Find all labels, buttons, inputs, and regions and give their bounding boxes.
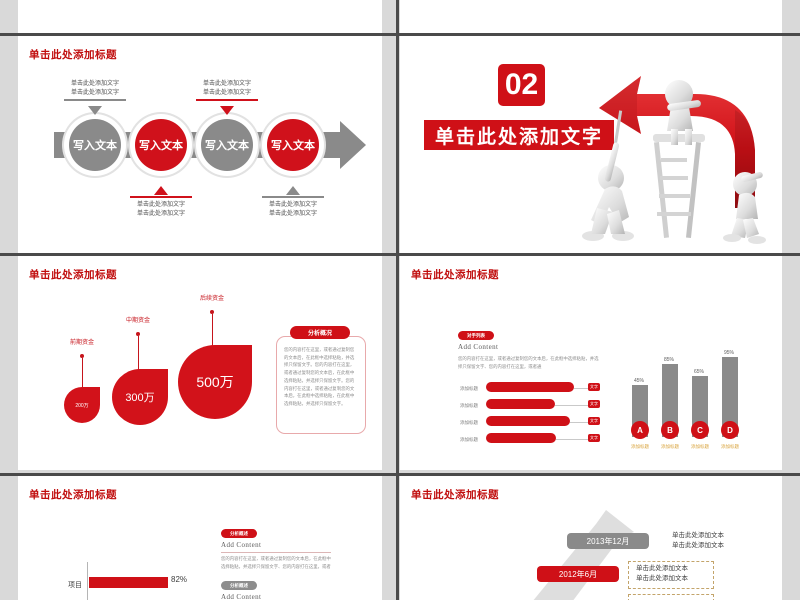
process-caption-4-line2: 单击此处添加文字 bbox=[262, 210, 324, 219]
bar-marker-a[interactable]: A bbox=[631, 421, 649, 439]
process-caption-4: 单击此处添加文字 单击此处添加文字 bbox=[262, 196, 324, 218]
process-caption-4-pointer bbox=[286, 186, 300, 195]
row-separator-1 bbox=[0, 33, 800, 36]
page-title: 单击此处添加标题 bbox=[29, 47, 117, 62]
comparison-row-2-tag-text: 文字 bbox=[590, 401, 598, 407]
comparison-badge: 对手列表 bbox=[458, 331, 494, 340]
timeline-text-2013: 单击此处添加文本 单击此处添加文本 bbox=[672, 531, 724, 552]
drop-2-label-text: 中期资金 bbox=[126, 318, 150, 324]
process-caption-3-pointer bbox=[220, 106, 234, 115]
process-step-1-label: 写入文本 bbox=[73, 137, 117, 153]
comparison-row-3-connector bbox=[570, 421, 589, 423]
bar-tick-b: 添加标题 bbox=[654, 444, 686, 450]
process-step-2-label: 写入文本 bbox=[139, 137, 183, 153]
bar-marker-b-label: B bbox=[667, 426, 673, 435]
step-ladder bbox=[653, 134, 705, 238]
bar-tick-d: 添加标题 bbox=[714, 444, 746, 450]
drop-1[interactable]: 200万 bbox=[64, 387, 100, 423]
comparison-row-4-label: 添加标题 bbox=[460, 437, 478, 443]
section-number: 02 bbox=[505, 68, 538, 102]
comparison-badge-text: 对手列表 bbox=[467, 333, 485, 339]
process-caption-1-line2: 单击此处添加文字 bbox=[64, 89, 126, 98]
bar-marker-c-label: C bbox=[697, 426, 703, 435]
comparison-subhead: Add Content bbox=[458, 343, 498, 351]
row-separator-3 bbox=[0, 473, 800, 476]
progress-value: 82% bbox=[171, 576, 185, 584]
process-caption-1-pointer bbox=[88, 106, 102, 115]
row-separator-2 bbox=[0, 253, 800, 256]
process-caption-4-rule bbox=[262, 196, 324, 198]
process-caption-1-rule bbox=[64, 99, 126, 101]
column-separator bbox=[396, 0, 399, 600]
bar-marker-d[interactable]: D bbox=[721, 421, 739, 439]
comparison-row-2-bar[interactable] bbox=[486, 399, 555, 409]
detail-block-1-badge: 分析概述 bbox=[221, 529, 257, 538]
process-step-4-label: 写入文本 bbox=[271, 137, 315, 153]
bar-value-a: 45% bbox=[626, 378, 652, 384]
timeline-chip-2012[interactable]: 2012年6月 bbox=[537, 566, 619, 582]
process-caption-3-rule bbox=[196, 99, 258, 101]
comparison-row-3-label: 添加标题 bbox=[460, 420, 478, 426]
drop-1-stem bbox=[82, 358, 83, 388]
timeline-text-2013-line1: 单击此处添加文本 bbox=[672, 531, 724, 541]
comparison-row-1-label: 添加标题 bbox=[460, 386, 478, 392]
drop-2[interactable]: 300万 bbox=[112, 369, 168, 425]
bar-value-b: 85% bbox=[656, 357, 682, 363]
progress-label-text: 项目 bbox=[68, 582, 82, 589]
page-title: 单击此处添加标题 bbox=[29, 487, 117, 502]
timeline-text-2012: 单击此处添加文本 单击此处添加文本 bbox=[636, 564, 688, 585]
analysis-note-body: 您的内容打在这里，或者通过复制您的文本后，在此框中选择粘贴，并选择只保留文字。您… bbox=[284, 346, 357, 426]
process-step-3-label: 写入文本 bbox=[205, 137, 249, 153]
drop-1-label-text: 前期资金 bbox=[70, 340, 94, 346]
comparison-row-2-tag: 文字 bbox=[588, 400, 600, 408]
comparison-row-1-bar[interactable] bbox=[486, 382, 574, 392]
process-caption-2: 单击此处添加文字 单击此处添加文字 bbox=[130, 196, 192, 218]
progress-bar[interactable] bbox=[89, 577, 168, 588]
process-caption-3: 单击此处添加文字 单击此处添加文字 bbox=[196, 80, 258, 101]
detail-block-1-badge-text: 分析概述 bbox=[230, 531, 248, 537]
drop-2-stem bbox=[138, 336, 139, 370]
detail-block-1-body: 您的内容打在这里，或者通过复制您的文本后，在此框中选择粘贴，并选择只保留文字、您… bbox=[221, 555, 333, 570]
comparison-row-3-tag-text: 文字 bbox=[590, 418, 598, 424]
process-caption-4-line1: 单击此处添加文字 bbox=[262, 201, 324, 210]
comparison-row-2-label: 添加标题 bbox=[460, 403, 478, 409]
comparison-row-1-connector bbox=[574, 387, 589, 389]
slide-timeline[interactable]: 单击此处添加标题 2013年12月 单击此处添加文本 单击此处添加文本 2012… bbox=[400, 476, 782, 600]
process-step-1[interactable]: 写入文本 bbox=[69, 119, 121, 171]
comparison-row-2-connector bbox=[555, 404, 589, 406]
process-arrow-head bbox=[340, 121, 366, 169]
bar-marker-a-label: A bbox=[637, 426, 643, 435]
drop-2-label: 中期资金 bbox=[120, 318, 156, 326]
detail-block-2-badge-text: 分析概述 bbox=[230, 583, 248, 589]
timeline-text-2012-line1: 单击此处添加文本 bbox=[636, 564, 688, 574]
slide-partial-top-right[interactable] bbox=[400, 0, 782, 33]
timeline-text-extra-box bbox=[628, 594, 714, 600]
timeline-chip-2013-text: 2013年12月 bbox=[587, 536, 630, 547]
comparison-row-1-tag-text: 文字 bbox=[590, 384, 598, 390]
process-caption-3-line2: 单击此处添加文字 bbox=[196, 89, 258, 98]
process-caption-2-rule bbox=[130, 196, 192, 198]
progress-axis bbox=[87, 562, 88, 600]
bar-marker-b[interactable]: B bbox=[661, 421, 679, 439]
comparison-row-1-tag: 文字 bbox=[588, 383, 600, 391]
drop-3[interactable]: 500万 bbox=[178, 345, 252, 419]
comparison-row-3-tag: 文字 bbox=[588, 417, 600, 425]
detail-block-2-subhead: Add Content bbox=[221, 593, 261, 600]
process-caption-2-line1: 单击此处添加文字 bbox=[130, 201, 192, 210]
bar-tick-a: 添加标题 bbox=[624, 444, 656, 450]
slide-section-hero[interactable]: 02 单击此处添加文字 bbox=[400, 36, 782, 253]
process-step-4[interactable]: 写入文本 bbox=[267, 119, 319, 171]
comparison-row-4-connector bbox=[556, 438, 589, 440]
detail-block-1-rule bbox=[221, 552, 331, 553]
process-caption-3-line1: 单击此处添加文字 bbox=[196, 80, 258, 89]
comparison-row-4-tag: 文字 bbox=[588, 434, 600, 442]
figure-right bbox=[723, 171, 766, 244]
slide-funding-drops[interactable]: 单击此处添加标题 前期资金 200万 中期资金 300万 后续资金 500万 bbox=[18, 256, 382, 470]
detail-block-2-badge: 分析概述 bbox=[221, 581, 257, 590]
progress-label: 项目 bbox=[68, 580, 82, 590]
drop-3-stem bbox=[212, 314, 213, 346]
timeline-chip-2012-text: 2012年6月 bbox=[559, 569, 597, 580]
bar-value-c: 65% bbox=[686, 369, 712, 375]
slide-partial-top-left[interactable] bbox=[18, 0, 382, 33]
process-step-3[interactable]: 写入文本 bbox=[201, 119, 253, 171]
analysis-note-badge: 分析概况 bbox=[290, 326, 350, 339]
slide-comparison-bars[interactable]: 单击此处添加标题 对手列表 Add Content 您的内容打在这里，或者通过复… bbox=[400, 256, 782, 470]
section-number-badge: 02 bbox=[498, 64, 545, 106]
drop-1-label: 前期资金 bbox=[64, 340, 100, 348]
analysis-note-badge-text: 分析概况 bbox=[308, 328, 332, 337]
process-caption-1-line1: 单击此处添加文字 bbox=[64, 80, 126, 89]
process-caption-1: 单击此处添加文字 单击此处添加文字 bbox=[64, 80, 126, 101]
bar-marker-d-label: D bbox=[727, 426, 733, 435]
drop-3-label-text: 后续资金 bbox=[200, 296, 224, 302]
bar-marker-c[interactable]: C bbox=[691, 421, 709, 439]
figure-left bbox=[582, 142, 634, 241]
page-title: 单击此处添加标题 bbox=[411, 267, 499, 282]
comparison-row-3-bar[interactable] bbox=[486, 416, 570, 426]
timeline-chip-2013[interactable]: 2013年12月 bbox=[567, 533, 649, 549]
process-step-2[interactable]: 写入文本 bbox=[135, 119, 187, 171]
slide-process-arrow[interactable]: 单击此处添加标题 写入文本 写入文本 写入文本 写入文本 单击此处添加文字 单击… bbox=[18, 36, 382, 253]
slide-grid-page: 单击此处添加标题 写入文本 写入文本 写入文本 写入文本 单击此处添加文字 单击… bbox=[0, 0, 800, 600]
page-title: 单击此处添加标题 bbox=[29, 267, 117, 282]
process-caption-2-line2: 单击此处添加文字 bbox=[130, 210, 192, 219]
drop-1-value: 200万 bbox=[75, 402, 88, 409]
timeline-text-2012-line2: 单击此处添加文本 bbox=[636, 574, 688, 584]
bar-tick-c: 添加标题 bbox=[684, 444, 716, 450]
detail-block-1-subhead: Add Content bbox=[221, 541, 261, 549]
drop-3-value: 500万 bbox=[196, 372, 233, 392]
teamwork-arrow-illustration bbox=[575, 58, 782, 250]
drop-3-label: 后续资金 bbox=[194, 296, 230, 304]
page-title: 单击此处添加标题 bbox=[411, 487, 499, 502]
drop-2-value: 300万 bbox=[125, 389, 154, 405]
timeline-text-2013-line2: 单击此处添加文本 bbox=[672, 541, 724, 551]
slide-progress-detail[interactable]: 单击此处添加标题 项目 82% 分析概述 Add Content 您的内容打在这… bbox=[18, 476, 382, 600]
process-caption-2-pointer bbox=[154, 186, 168, 195]
comparison-row-4-tag-text: 文字 bbox=[590, 435, 598, 441]
comparison-row-4-bar[interactable] bbox=[486, 433, 556, 443]
bar-value-d: 95% bbox=[716, 350, 742, 356]
comparison-body: 您的内容打在这里，或者通过复制您的文本后，在此框中选择粘贴，并选择只保留文字、您… bbox=[458, 355, 600, 370]
